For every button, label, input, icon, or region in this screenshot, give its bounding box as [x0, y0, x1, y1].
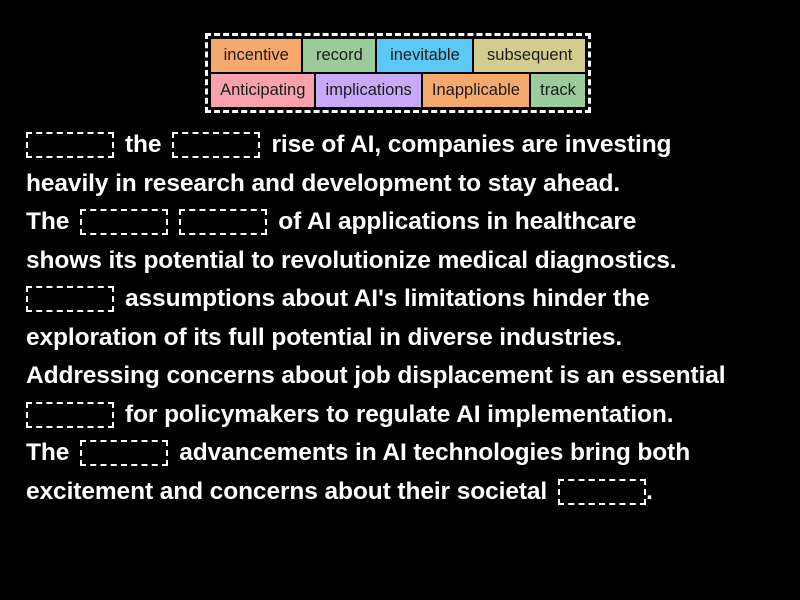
passage-line: Addressing concerns about job displaceme… [26, 357, 778, 396]
word-tile-inevitable[interactable]: inevitable [377, 39, 472, 72]
passage-text-segment: exploration of its full potential in div… [26, 324, 622, 352]
passage-text-segment: . [646, 478, 653, 506]
passage-line: Theof AI applications in healthcare [26, 203, 778, 242]
passage-text-segment: the [125, 131, 161, 159]
word-bank-row: incentiverecordinevitablesubsequent [211, 39, 585, 72]
passage-line: Theadvancements in AI technologies bring… [26, 434, 778, 473]
passage-line: exploration of its full potential in div… [26, 319, 778, 358]
passage-line: heavily in research and development to s… [26, 165, 778, 204]
passage-text-segment: excitement and concerns about their soci… [26, 478, 547, 506]
word-tile-anticipating[interactable]: Anticipating [211, 74, 314, 107]
word-tile-implications[interactable]: implications [316, 74, 420, 107]
answer-blank-2[interactable] [172, 132, 260, 158]
answer-blank-3[interactable] [80, 209, 168, 235]
word-tile-incentive[interactable]: incentive [211, 39, 301, 72]
word-tile-subsequent[interactable]: subsequent [474, 39, 585, 72]
passage-text-segment: of AI applications in healthcare [278, 208, 636, 236]
word-bank-row: AnticipatingimplicationsInapplicabletrac… [211, 74, 585, 107]
passage-text-segment: Addressing concerns about job displaceme… [26, 362, 725, 390]
passage-text-segment: assumptions about AI's limitations hinde… [125, 285, 650, 313]
word-tile-track[interactable]: track [531, 74, 585, 107]
answer-blank-7[interactable] [80, 440, 168, 466]
word-tile-inapplicable[interactable]: Inapplicable [423, 74, 529, 107]
answer-blank-5[interactable] [26, 286, 114, 312]
passage-text: therise of AI, companies are investinghe… [26, 126, 778, 511]
passage-text-segment: The [26, 208, 69, 236]
passage-text-segment: The [26, 439, 69, 467]
passage-text-segment: shows its potential to revolutionize med… [26, 247, 676, 275]
answer-blank-1[interactable] [26, 132, 114, 158]
passage-text-segment: for policymakers to regulate AI implemen… [125, 401, 674, 429]
answer-blank-6[interactable] [26, 402, 114, 428]
word-bank: incentiverecordinevitablesubsequentAntic… [205, 33, 591, 113]
passage-line: for policymakers to regulate AI implemen… [26, 396, 778, 435]
passage-line: shows its potential to revolutionize med… [26, 242, 778, 281]
word-tile-record[interactable]: record [303, 39, 375, 72]
passage-line: assumptions about AI's limitations hinde… [26, 280, 778, 319]
answer-blank-8[interactable] [558, 479, 646, 505]
passage-text-segment: advancements in AI technologies bring bo… [179, 439, 690, 467]
passage-line: excitement and concerns about their soci… [26, 473, 778, 512]
passage-text-segment: rise of AI, companies are investing [271, 131, 671, 159]
activity-canvas: incentiverecordinevitablesubsequentAntic… [0, 0, 800, 600]
answer-blank-4[interactable] [179, 209, 267, 235]
passage-line: therise of AI, companies are investing [26, 126, 778, 165]
passage-text-segment: heavily in research and development to s… [26, 170, 620, 198]
